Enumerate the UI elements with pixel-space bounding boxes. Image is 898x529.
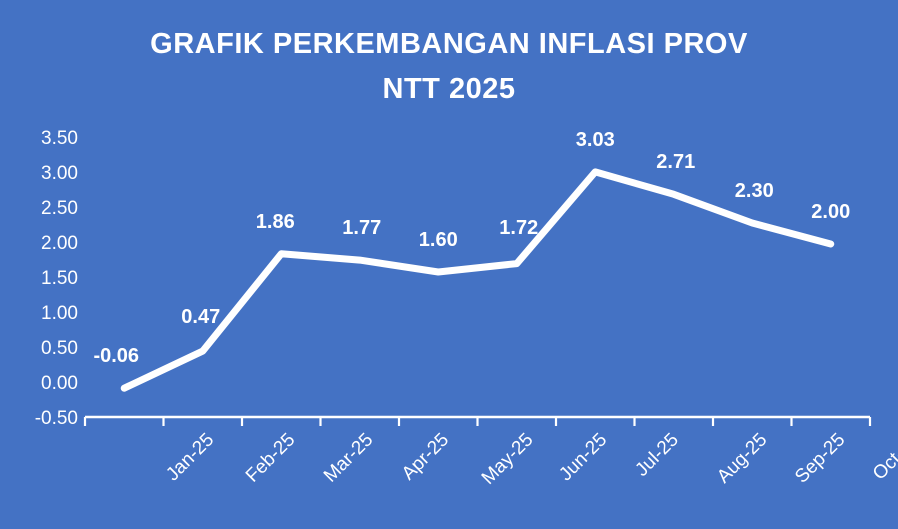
data-point-label: 2.30 [735, 181, 774, 201]
data-point-label: 2.00 [811, 202, 850, 222]
chart-container: GRAFIK PERKEMBANGAN INFLASI PROV NTT 202… [0, 0, 898, 529]
data-point-label: 1.86 [256, 212, 295, 232]
data-point-label: 1.60 [419, 230, 458, 250]
data-point-label: 1.72 [499, 218, 538, 238]
data-point-label: 0.47 [181, 307, 220, 327]
data-point-label: 2.71 [656, 152, 695, 172]
data-point-label: 3.03 [576, 130, 615, 150]
data-point-label: 1.77 [342, 218, 381, 238]
data-point-labels: -0.060.471.861.771.601.723.032.712.302.0… [0, 0, 898, 529]
data-point-label: -0.06 [93, 346, 139, 366]
